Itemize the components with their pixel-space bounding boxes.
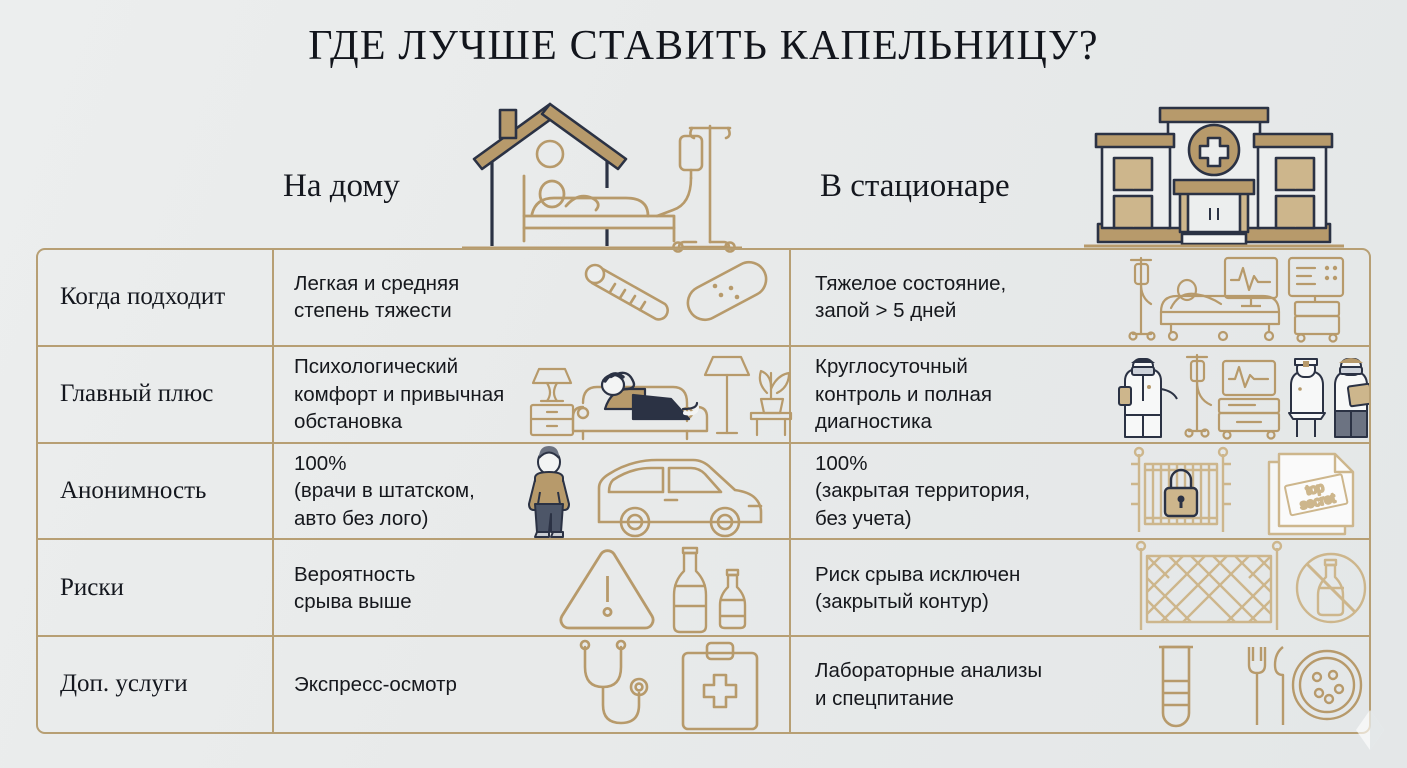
clinic-row5-icons (1119, 637, 1369, 732)
table-row: Риски Вероятность срыва выше (38, 540, 1369, 637)
warning-triangle-icon (561, 551, 653, 628)
row-home-cell: 100% (врачи в штатском, авто без лого) (274, 444, 791, 539)
infographic-page: ГДЕ ЛУЧШЕ СТАВИТЬ КАПЕЛЬНИЦУ? На дому В … (0, 0, 1407, 768)
clinic-row4-icons (1119, 540, 1369, 635)
doctor-icon (1119, 358, 1177, 437)
row-home-text: Вероятность срыва выше (294, 561, 415, 616)
row-home-cell: Экспресс-осмотр (274, 637, 791, 732)
row-clinic-cell: Тяжелое состояние, запой > 5 дней (791, 250, 1369, 345)
table-row: Когда подходит Легкая и средняя степень … (38, 250, 1369, 347)
row-home-cell: Психологический комфорт и привычная обст… (274, 347, 791, 442)
home-row1-icons (559, 250, 789, 345)
clinic-illustration (1084, 96, 1344, 252)
bottle-large-icon (674, 548, 706, 632)
row-home-text: Легкая и средняя степень тяжести (294, 270, 459, 325)
row-label: Главный плюс (38, 347, 274, 442)
table-row: Главный плюс Психологический комфорт и п… (38, 347, 1369, 444)
svg-text:secret: secret (1299, 490, 1337, 512)
top-secret-document-icon: top secret (1269, 454, 1353, 534)
row-home-text: Психологический комфорт и привычная обст… (294, 353, 504, 435)
row-label: Когда подходит (38, 250, 274, 345)
row-clinic-text: 100% (закрытая территория, без учета) (815, 450, 1030, 532)
row-clinic-text: Тяжелое состояние, запой > 5 дней (815, 270, 1006, 325)
row-clinic-text: Круглосуточный контроль и полная диагнос… (815, 353, 992, 435)
hospital-bed-patient-icon (1161, 280, 1279, 340)
person-on-sofa-icon (602, 373, 697, 419)
row-label: Анонимность (38, 444, 274, 539)
row-clinic-cell: Круглосуточный контроль и полная диагнос… (791, 347, 1369, 442)
potted-plant-icon (751, 371, 791, 435)
home-row5-icons (559, 637, 789, 732)
iv-stand-icon (1186, 355, 1212, 437)
comparison-table: Когда подходит Легкая и средняя степень … (36, 248, 1371, 734)
row-home-cell: Легкая и средняя степень тяжести (274, 250, 791, 345)
clinic-row2-icons (1119, 347, 1369, 442)
nightstand-lamp-icon (531, 369, 573, 435)
padlock-icon (1165, 470, 1197, 516)
table-row: Доп. услуги Экспресс-осмотр (38, 637, 1369, 732)
home-row4-icons (549, 540, 789, 635)
ecg-monitor-icon (1225, 258, 1277, 306)
staff-with-clipboard-icon (1335, 358, 1371, 437)
bandage-icon (682, 256, 772, 325)
fence-icon (1137, 542, 1281, 630)
medical-equipment-icon (1289, 258, 1343, 342)
row-home-text: Экспресс-осмотр (294, 671, 457, 698)
bottle-small-icon (720, 570, 745, 628)
clinic-row1-icons (1119, 250, 1369, 345)
clinic-row3-icons: top secret (1119, 444, 1369, 539)
row-label: Доп. услуги (38, 637, 274, 732)
unmarked-van-icon (599, 460, 761, 536)
row-clinic-text: Риск срыва исключен (закрытый контур) (815, 561, 1020, 616)
iv-stand-icon (1130, 258, 1155, 340)
nurse-icon (1289, 359, 1325, 437)
sofa-icon (573, 387, 707, 439)
column-header-home: На дому (283, 168, 400, 205)
home-row3-icons (513, 444, 789, 539)
table-row: Анонимность 100% (врачи в штатском, авто… (38, 444, 1369, 541)
row-clinic-cell: 100% (закрытая территория, без учета) (791, 444, 1369, 539)
monitor-cart-icon (1219, 361, 1279, 439)
home-illustration (462, 96, 742, 252)
row-clinic-cell: Риск срыва исключен (закрытый контур) (791, 540, 1369, 635)
test-tube-icon (1159, 647, 1193, 726)
row-home-text: 100% (врачи в штатском, авто без лого) (294, 450, 475, 532)
row-clinic-text: Лабораторные анализы и спецпитание (815, 657, 1042, 712)
row-label: Риски (38, 540, 274, 635)
locked-gate-icon (1131, 448, 1231, 532)
diamond-watermark-icon (1353, 708, 1387, 752)
no-alcohol-icon (1297, 554, 1365, 622)
column-header-clinic: В стационаре (820, 168, 1010, 205)
clipboard-medical-icon (683, 643, 757, 729)
home-row2-icons (527, 347, 789, 442)
standing-person-icon (529, 446, 569, 537)
svg-text:top: top (1304, 479, 1325, 497)
thermometer-icon (586, 265, 668, 319)
page-title: ГДЕ ЛУЧШЕ СТАВИТЬ КАПЕЛЬНИЦУ? (0, 22, 1407, 70)
row-home-cell: Вероятность срыва выше (274, 540, 791, 635)
meal-plate-icon (1249, 647, 1361, 725)
stethoscope-icon (581, 641, 647, 723)
floor-lamp-icon (705, 357, 749, 433)
row-clinic-cell: Лабораторные анализы и спецпитание (791, 637, 1369, 732)
